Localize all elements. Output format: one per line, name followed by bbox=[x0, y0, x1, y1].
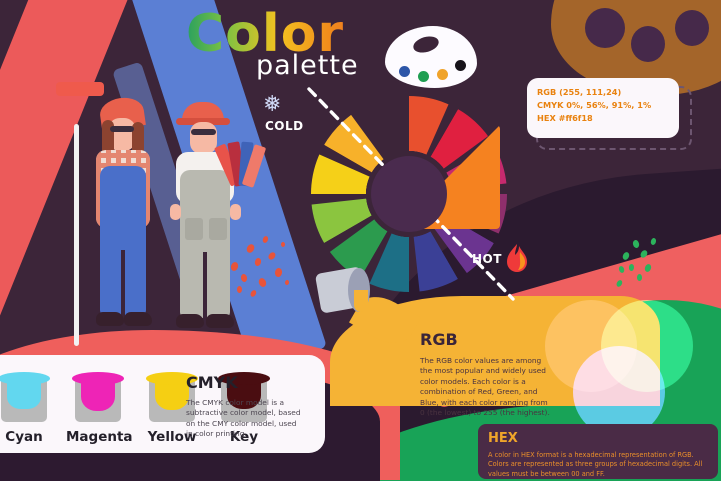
rgb-body: The RGB color values are among the most … bbox=[420, 356, 552, 418]
cmyk-label-cyan: Cyan bbox=[0, 429, 56, 445]
paint-dot bbox=[639, 249, 648, 259]
overalls-leg-split bbox=[203, 252, 207, 318]
shoe-right bbox=[124, 312, 152, 326]
flame-icon bbox=[504, 243, 530, 273]
paint-dot bbox=[629, 264, 635, 271]
hex-body: A color in HEX format is a hexadecimal r… bbox=[488, 451, 708, 479]
tooltip-rgb-value: RGB (255, 111,24) bbox=[537, 86, 669, 99]
hand-left bbox=[170, 204, 181, 220]
color-swatch-fan bbox=[222, 142, 264, 190]
glasses bbox=[110, 126, 134, 132]
paint-dot bbox=[281, 242, 285, 247]
paint-dot bbox=[644, 263, 652, 272]
paint-dot bbox=[622, 251, 631, 261]
hot-label-group: HOT bbox=[472, 243, 532, 275]
paint-dot bbox=[257, 277, 267, 288]
face bbox=[190, 122, 217, 154]
paint-roller-handle bbox=[74, 124, 79, 346]
shoe-left bbox=[176, 314, 204, 328]
paint-dot bbox=[254, 257, 262, 266]
paint-dot bbox=[285, 280, 290, 286]
hex-heading: HEX bbox=[488, 431, 708, 446]
snowflake-icon: ❅ bbox=[263, 93, 281, 115]
cmyk-heading: CMYK bbox=[186, 373, 304, 392]
color-value-tooltip: RGB (255, 111,24) CMYK 0%, 56%, 91%, 1% … bbox=[527, 78, 679, 138]
shoe-left bbox=[96, 312, 124, 326]
paint-roller-head bbox=[56, 82, 104, 96]
palette-dab-blue bbox=[399, 66, 410, 77]
infographic-canvas: Color palette ❅ COLD HOT RGB (255, 111,2… bbox=[0, 0, 721, 481]
rgb-panel: RGB The RGB color values are among the m… bbox=[420, 330, 570, 422]
paint-dot bbox=[274, 267, 282, 277]
painter-man bbox=[160, 100, 255, 350]
cold-label-group: ❅ COLD bbox=[263, 95, 325, 137]
paint-dot bbox=[632, 239, 640, 248]
rgb-heading: RGB bbox=[420, 330, 570, 349]
pocket-right bbox=[209, 218, 227, 240]
hand-right bbox=[230, 204, 241, 220]
overalls-leg-split bbox=[121, 250, 125, 316]
cmyk-panel: Cyan Magenta Yellow Key CMYK The CMYK co… bbox=[0, 355, 325, 453]
cold-label: COLD bbox=[265, 119, 304, 133]
paint-dot bbox=[650, 237, 657, 245]
paint-dot bbox=[616, 279, 624, 287]
painter-woman bbox=[78, 100, 168, 350]
bucket-magenta bbox=[72, 370, 124, 422]
paint-dot bbox=[267, 251, 277, 261]
shoe-right bbox=[206, 314, 234, 328]
bucket-cyan bbox=[0, 370, 50, 422]
cmyk-label-magenta: Magenta bbox=[66, 429, 130, 445]
palette-dab-black bbox=[455, 60, 466, 71]
paint-dot bbox=[637, 274, 642, 281]
paint-dot bbox=[262, 235, 269, 243]
tooltip-cmyk-value: CMYK 0%, 56%, 91%, 1% bbox=[537, 99, 669, 112]
pocket-left bbox=[185, 218, 203, 240]
glasses bbox=[191, 129, 216, 135]
hex-panel: HEX A color in HEX format is a hexadecim… bbox=[478, 424, 718, 479]
hot-label: HOT bbox=[472, 252, 502, 266]
spilled-paint-bucket bbox=[318, 268, 380, 312]
color-wheel-hub bbox=[371, 156, 447, 232]
paint-dot bbox=[618, 265, 625, 273]
cmyk-body: The CMYK color model is a subtractive co… bbox=[186, 398, 304, 440]
green-paint-splatter bbox=[615, 230, 675, 290]
rgb-additive-circles bbox=[545, 300, 715, 410]
tooltip-hex-value: HEX #ff6f18 bbox=[537, 112, 669, 125]
